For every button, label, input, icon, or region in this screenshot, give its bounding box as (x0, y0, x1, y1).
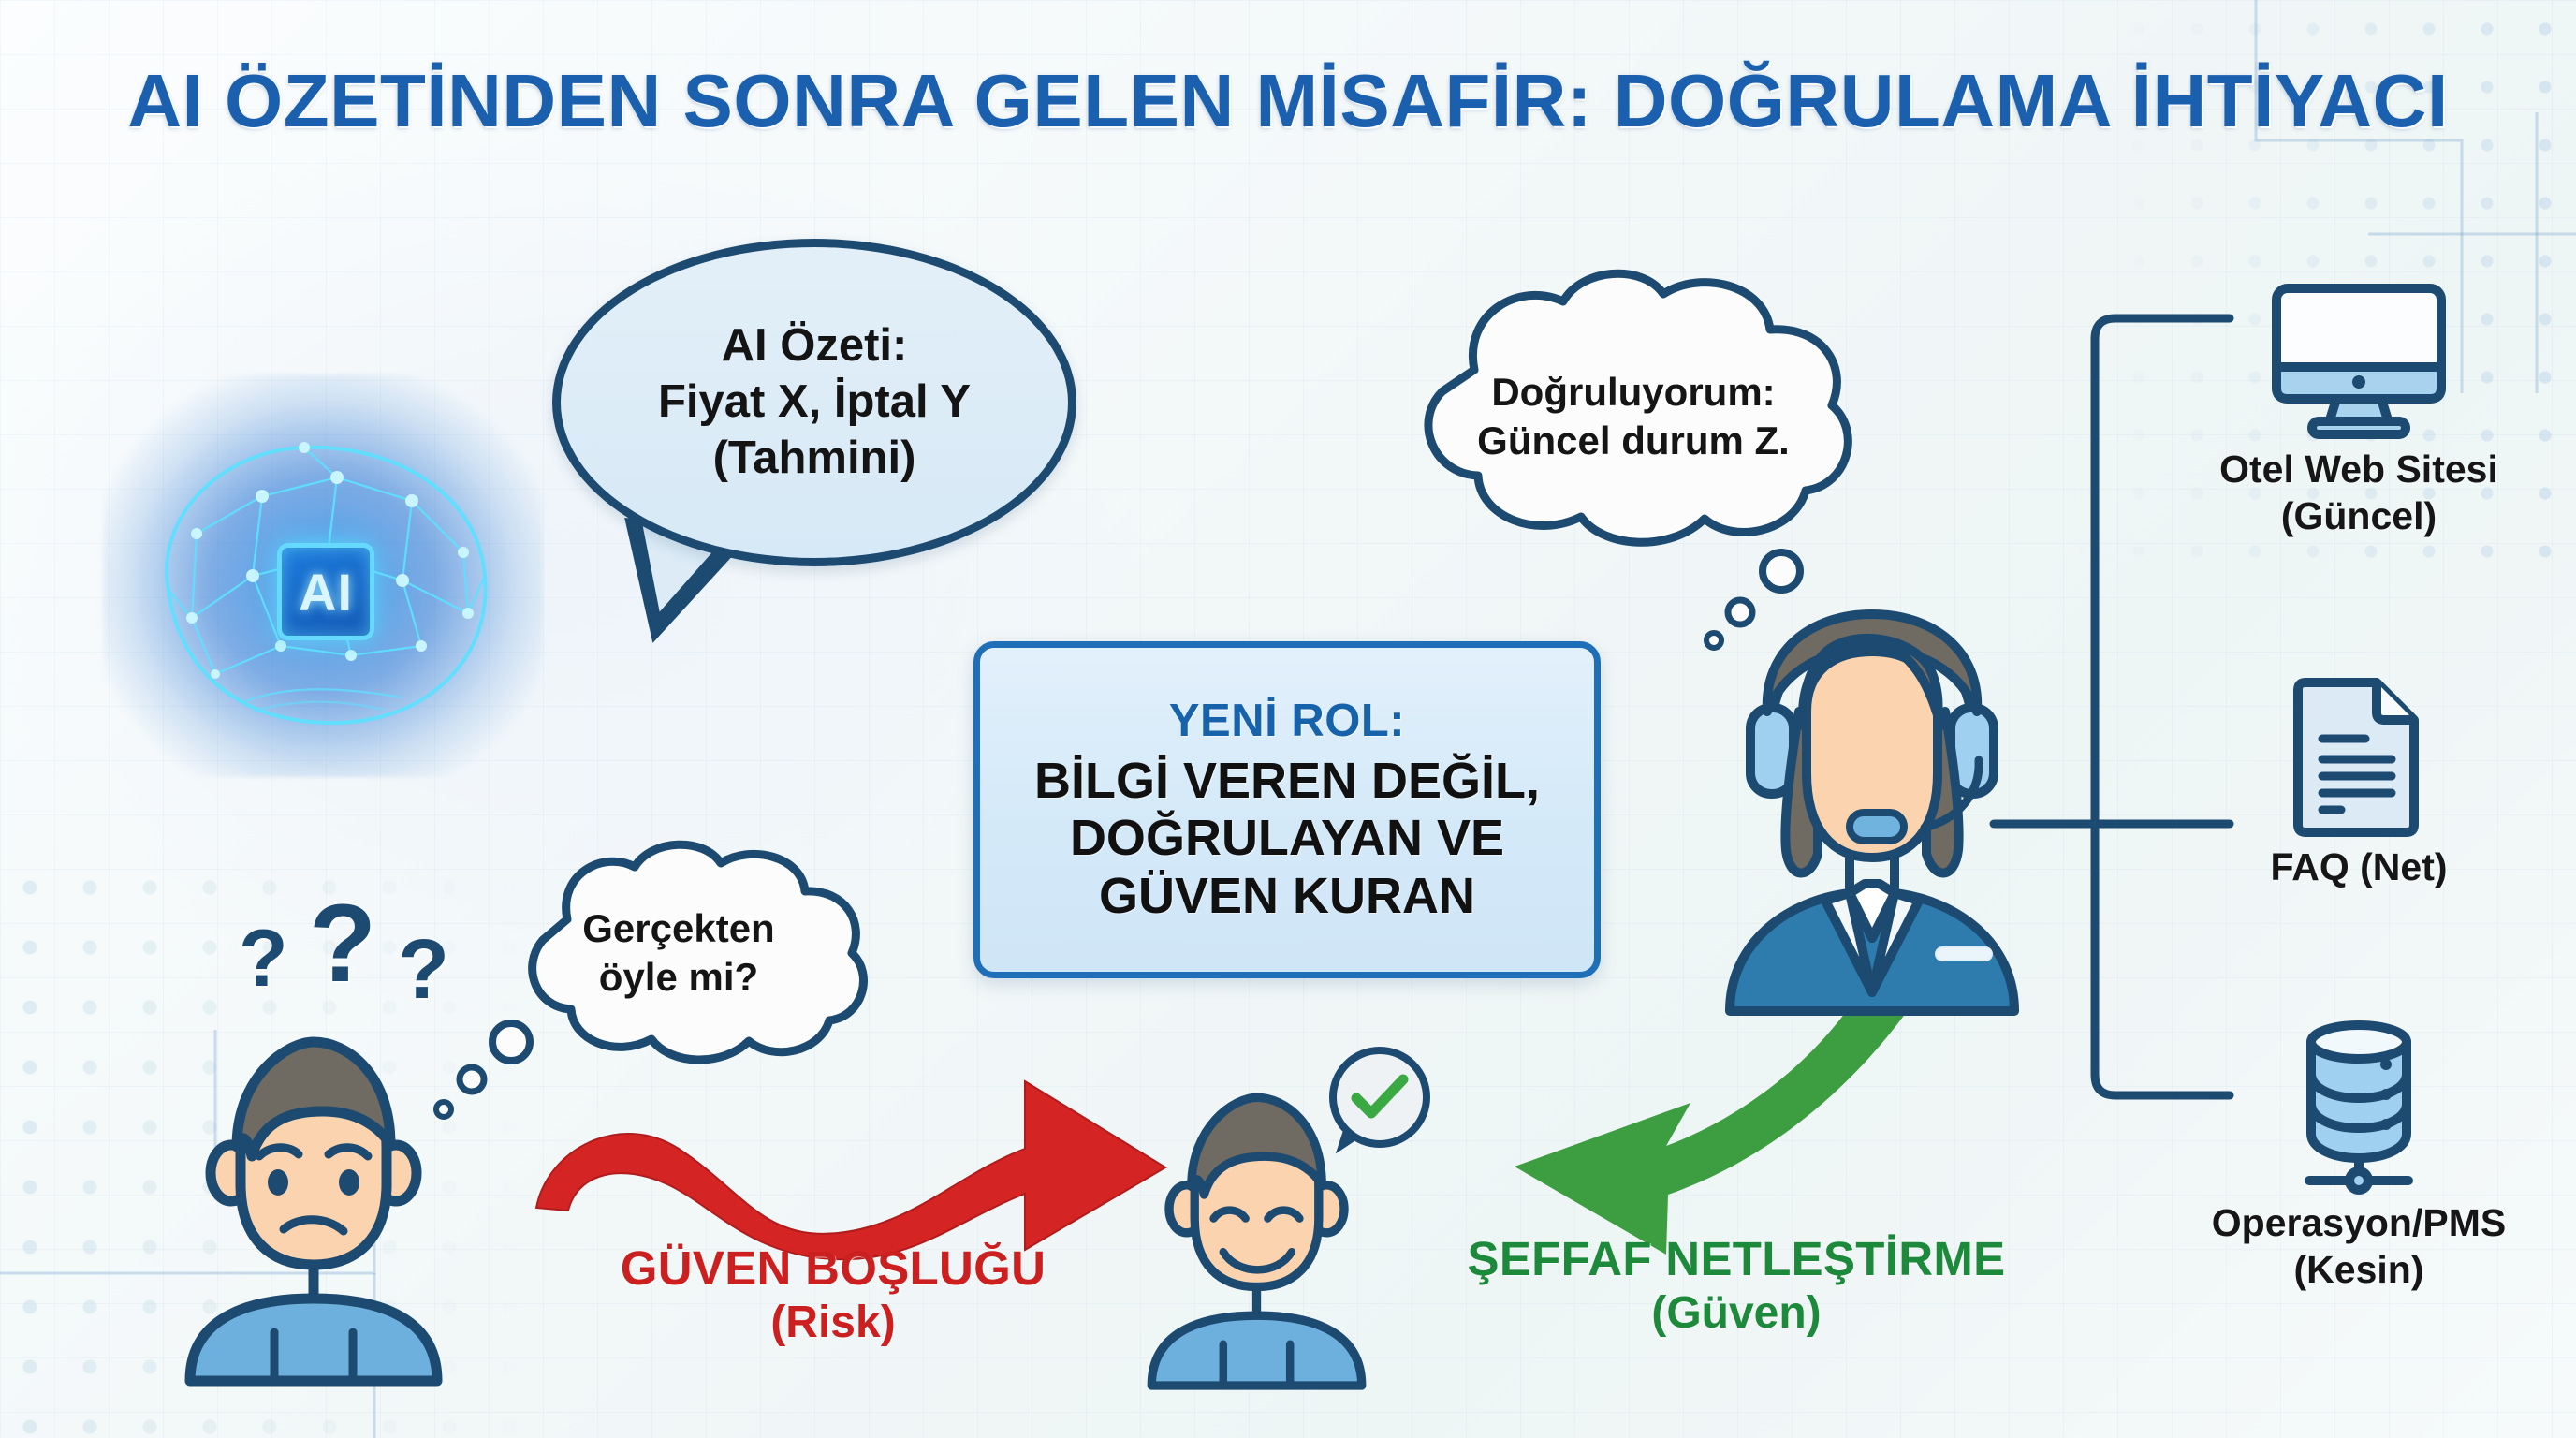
source-db-line1: Operasyon/PMS (2158, 1199, 2560, 1246)
trust-label-title: ŞEFFAF NETLEŞTİRME (1409, 1231, 2064, 1287)
page-title: AI ÖZETİNDEN SONRA GELEN MİSAFİR: DOĞRUL… (0, 58, 2576, 144)
agent-bubble-text: Doğruluyorum: Güncel durum Z. (1362, 271, 1905, 562)
hotel-agent-avatar (1713, 599, 2031, 1011)
confused-person-icon (173, 1006, 454, 1381)
trust-gap-arrow (520, 1063, 1175, 1259)
guest-bubble-line2: öyle mi? (599, 953, 758, 1001)
agent-bubble-line1: Doğruluyorum: (1491, 368, 1775, 418)
verified-check-bubble (1329, 1047, 1430, 1148)
risk-label-subtitle: (Risk) (552, 1297, 1114, 1350)
source-faq-document: FAQ (Net) (2200, 669, 2518, 890)
question-mark-icon-medium: ? (398, 922, 449, 1019)
check-icon (1351, 1074, 1409, 1121)
role-card-line3: GÜVEN KURAN (1099, 868, 1475, 926)
ai-bubble-line1: AI Özeti: (722, 318, 908, 374)
source-web-line1: Otel Web Sitesi (2162, 446, 2555, 492)
role-card-line1: BİLGİ VEREN DEĞİL, (1034, 753, 1540, 811)
headset-agent-icon (1713, 599, 2031, 1011)
trust-label-subtitle: (Güven) (1409, 1287, 2064, 1341)
source-web-caption: Otel Web Sitesi (Güncel) (2162, 446, 2555, 539)
source-db-caption: Operasyon/PMS (Kesin) (2158, 1199, 2560, 1293)
guest-thought-bubble: Gerçekten öyle mi? (487, 843, 871, 1063)
source-hotel-website: Otel Web Sitesi (Güncel) (2162, 281, 2555, 539)
role-card-heading: YENİ ROL: (1169, 695, 1405, 747)
trust-label: ŞEFFAF NETLEŞTİRME (Güven) (1409, 1231, 2064, 1341)
document-icon (2289, 669, 2429, 838)
agent-thought-bubble: Doğruluyorum: Güncel durum Z. (1362, 271, 1905, 562)
confused-guest-avatar (173, 1006, 454, 1381)
question-mark-icon-large: ? (309, 880, 376, 1007)
monitor-icon (2265, 281, 2452, 440)
risk-label: GÜVEN BOŞLUĞU (Risk) (552, 1240, 1114, 1350)
ai-summary-bubble: AI Özeti: Fiyat X, İptal Y (Tahmini) (552, 239, 1076, 566)
ai-brain-graphic: AI (103, 374, 543, 777)
risk-label-title: GÜVEN BOŞLUĞU (552, 1240, 1114, 1297)
agent-bubble-line2: Güncel durum Z. (1477, 417, 1790, 466)
source-db-line2: (Kesin) (2158, 1246, 2560, 1293)
guest-bubble-text: Gerçekten öyle mi? (487, 843, 871, 1063)
source-faq-caption: FAQ (Net) (2200, 844, 2518, 890)
source-operations-pms: Operasyon/PMS (Kesin) (2158, 1016, 2560, 1293)
infographic-canvas: AI ÖZETİNDEN SONRA GELEN MİSAFİR: DOĞRUL… (0, 0, 2576, 1438)
database-icon (2270, 1016, 2448, 1194)
ai-bubble-line3: (Tahmini) (713, 431, 916, 487)
ai-chip-label: AI (277, 543, 374, 640)
source-faq-line1: FAQ (Net) (2200, 844, 2518, 890)
source-web-line2: (Güncel) (2162, 492, 2555, 539)
guest-bubble-line1: Gerçekten (582, 904, 774, 952)
role-card-line2: DOĞRULAYAN VE (1070, 810, 1504, 868)
question-mark-icon-small: ? (239, 913, 288, 1005)
ai-bubble-line2: Fiyat X, İptal Y (658, 374, 971, 431)
new-role-card: YENİ ROL: BİLGİ VEREN DEĞİL, DOĞRULAYAN … (973, 641, 1601, 978)
